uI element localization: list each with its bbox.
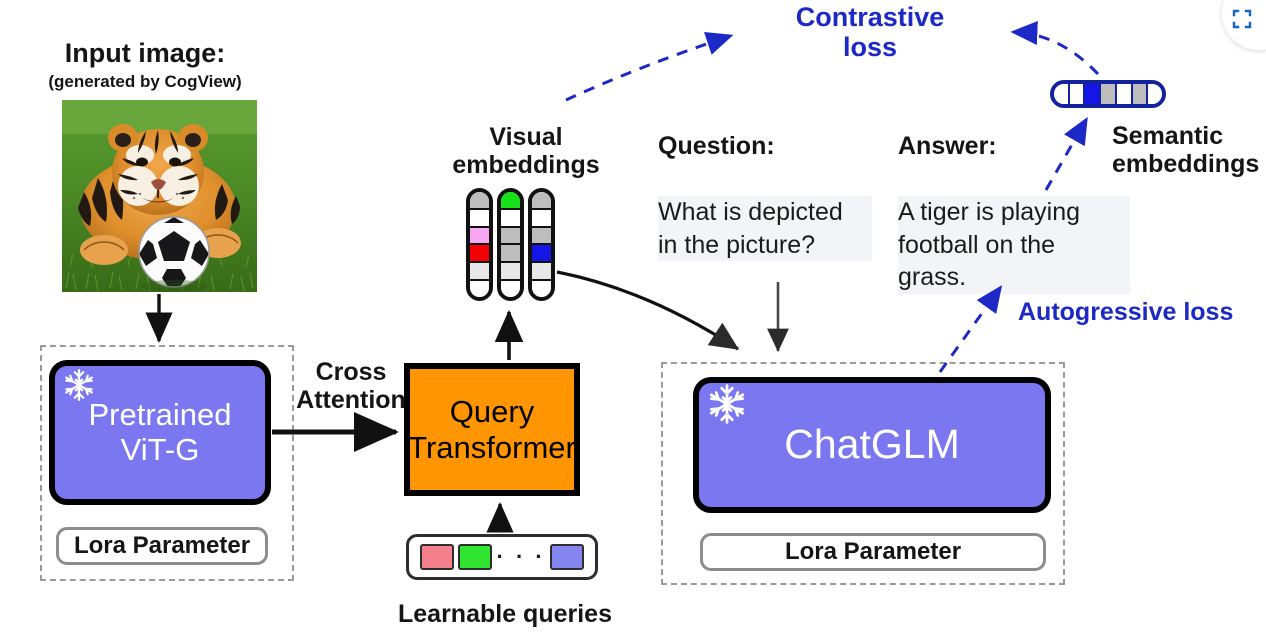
pill-segment (1070, 84, 1086, 104)
arrow-visual-embeddings-to-contrastive-loss (566, 36, 730, 100)
pill-segment (470, 281, 489, 297)
contrastive-loss-label: Contrastive loss (760, 2, 980, 62)
question-text: What is depicted in the picture? (658, 196, 872, 261)
pill-segment (501, 281, 520, 297)
diagram-canvas: Input image: (generated by CogView) (0, 0, 1266, 643)
input-image-subtitle: (generated by CogView) (20, 72, 270, 91)
pill-segment (1085, 84, 1101, 104)
snowflake-icon (62, 368, 96, 408)
query-ellipsis: · · · (497, 546, 546, 568)
autogressive-loss-label: Autogressive loss (1018, 298, 1266, 326)
pill-segment (532, 228, 551, 246)
pill-segment (501, 192, 520, 210)
pill-segment (501, 263, 520, 281)
pill-segment (470, 263, 489, 281)
query-chip-purple (550, 544, 584, 570)
pill-segment (532, 263, 551, 281)
question-label: Question: (658, 132, 858, 160)
visual-embeddings-label: Visual embeddings (428, 123, 624, 179)
pill-segment (1148, 84, 1162, 104)
query-transformer-box[interactable]: Query Transformer (404, 363, 580, 496)
visual-embedding-pill-3 (528, 188, 555, 301)
pill-segment (501, 245, 520, 263)
pill-segment (532, 192, 551, 210)
pill-segment (532, 245, 551, 263)
semantic-embeddings-label: Semantic embeddings (1112, 122, 1266, 178)
input-image-title: Input image: (20, 38, 270, 68)
pill-segment (1117, 84, 1133, 104)
pill-segment (532, 281, 551, 297)
answer-label: Answer: (898, 132, 1098, 160)
arrow-semantic-embeddings-to-contrastive-loss (1014, 32, 1098, 74)
arrow-visual-embeddings-to-chatglm (557, 272, 738, 349)
snowflake-icon (706, 383, 748, 433)
pill-segment (532, 210, 551, 228)
arrow-chatglm-to-answer (940, 288, 1000, 372)
learnable-queries-tray[interactable]: · · · (406, 534, 598, 580)
pill-segment (501, 228, 520, 246)
cross-attention-label: Cross Attention (290, 358, 412, 414)
pill-segment (470, 228, 489, 246)
learnable-queries-label: Learnable queries (370, 600, 640, 628)
pill-segment (1101, 84, 1117, 104)
visual-embedding-pill-2 (497, 188, 524, 301)
pill-segment (470, 245, 489, 263)
chatglm-lora-parameter-badge[interactable]: Lora Parameter (700, 533, 1046, 571)
scan-crop-icon (1232, 9, 1252, 34)
tiger-with-football-photo (62, 100, 257, 292)
query-chip-green (458, 544, 492, 570)
vit-lora-parameter-badge[interactable]: Lora Parameter (56, 527, 268, 565)
pill-segment (501, 210, 520, 228)
query-chip-red (420, 544, 454, 570)
pill-segment (470, 192, 489, 210)
scan-crop-button[interactable] (1222, 0, 1266, 50)
pill-segment (1133, 84, 1149, 104)
pill-segment (1054, 84, 1070, 104)
pill-segment (470, 210, 489, 228)
visual-embedding-pill-1 (466, 188, 493, 301)
answer-text: A tiger is playing football on the grass… (898, 196, 1130, 294)
semantic-embedding-pill (1050, 80, 1166, 108)
